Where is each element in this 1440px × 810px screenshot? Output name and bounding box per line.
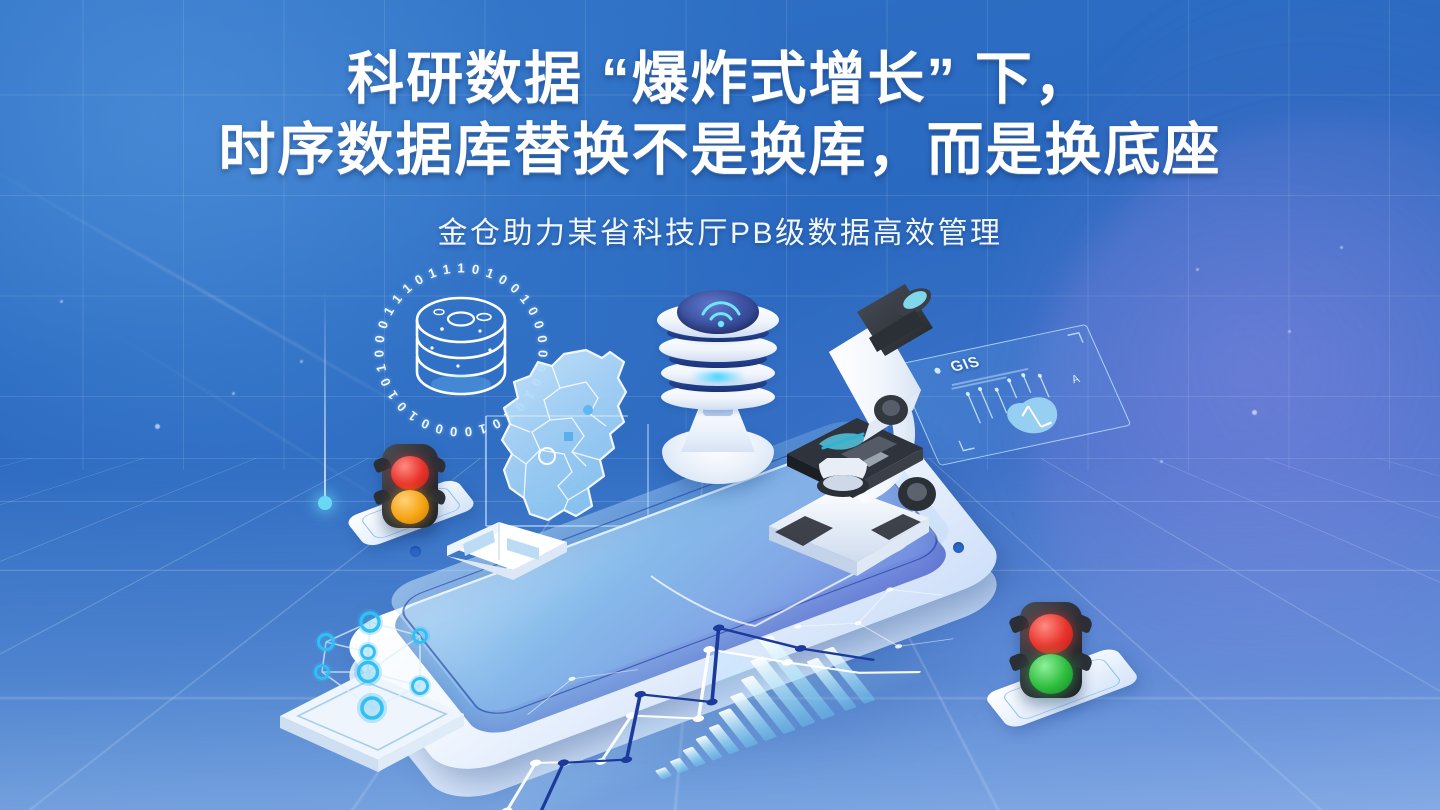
network-node-graph — [262, 600, 492, 765]
binary-digit: 0 — [534, 334, 550, 343]
traffic-light-red-lamp — [391, 456, 429, 490]
binary-digit: 0 — [372, 334, 388, 343]
microscope-icon — [745, 278, 955, 578]
traffic-light-red-amber — [352, 440, 482, 550]
binary-digit: 1 — [373, 363, 389, 373]
illustration-group: 10100100000010101000010101000111011 — [0, 0, 1440, 810]
network-graph-icon — [262, 600, 492, 765]
wifi-signal-icon — [697, 294, 745, 328]
binary-digit: 0 — [525, 304, 542, 317]
binary-digit: 1 — [442, 261, 452, 277]
poster-canvas: 科研数据 “爆炸式增长” 下， 时序数据库替换不是换库，而是换底座 金仓助力某省… — [0, 0, 1440, 810]
binary-digit: 1 — [457, 261, 464, 276]
binary-digit: 1 — [405, 408, 420, 424]
traffic-light-red-green — [988, 600, 1138, 728]
binary-digit: 1 — [380, 304, 397, 317]
binary-digit: 0 — [412, 271, 426, 288]
traffic-light-green-lamp — [1029, 654, 1073, 694]
microscope — [745, 278, 955, 578]
binary-digit: 1 — [399, 280, 414, 296]
traffic-light-amber-lamp — [391, 490, 429, 524]
binary-digit: 0 — [507, 280, 522, 296]
binary-digit: 0 — [377, 376, 394, 389]
binary-digit: 1 — [389, 291, 405, 306]
binary-digit: 0 — [371, 350, 386, 358]
sensor-glow — [691, 372, 745, 382]
binary-digit: 0 — [375, 319, 392, 331]
binary-digit: 0 — [394, 399, 410, 415]
binary-digit: 1 — [384, 388, 401, 402]
binary-digit: 1 — [517, 291, 533, 306]
binary-digit: 0 — [496, 271, 510, 288]
binary-digit: 1 — [426, 265, 438, 282]
binary-digit: 0 — [531, 319, 548, 331]
binary-digit: 0 — [471, 261, 481, 277]
traffic-light-red-lamp — [1029, 614, 1073, 654]
binary-digit: 1 — [484, 265, 496, 282]
svg-text:A: A — [1070, 373, 1082, 386]
